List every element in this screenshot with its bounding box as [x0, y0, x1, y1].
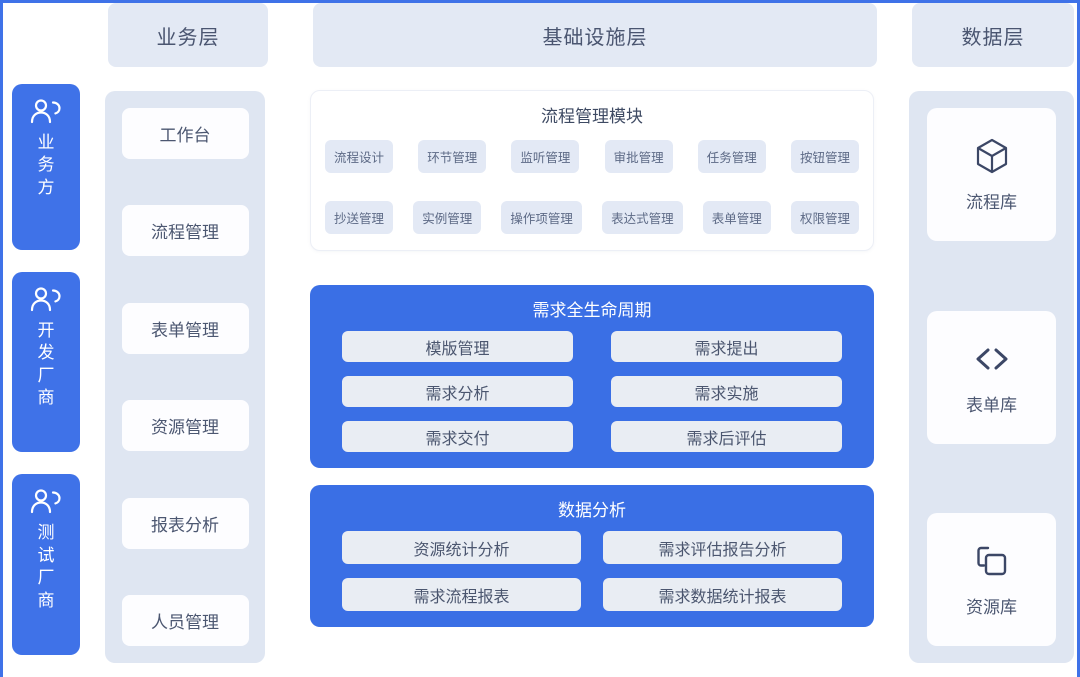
column-gap-2 — [874, 71, 909, 677]
header-infrastructure-layer: 基础设施层 — [313, 3, 877, 67]
tag-task-mgmt[interactable]: 任务管理 — [698, 140, 766, 173]
process-tag-row-2: 抄送管理 实例管理 操作项管理 表达式管理 表单管理 权限管理 — [325, 201, 859, 234]
lifecycle-grid: 模版管理 需求提出 需求分析 需求实施 需求交付 需求后评估 — [342, 331, 842, 452]
tag-operation-mgmt[interactable]: 操作项管理 — [501, 201, 582, 234]
data-card-process-repo[interactable]: 流程库 — [927, 108, 1056, 241]
tag-instance-mgmt[interactable]: 实例管理 — [413, 201, 481, 234]
role-label: 开发厂商 — [35, 320, 57, 410]
pill-requirement-analysis[interactable]: 需求分析 — [342, 376, 573, 407]
process-management-module: 流程管理模块 流程设计 环节管理 监听管理 审批管理 任务管理 按钮管理 抄送管… — [310, 90, 874, 251]
data-card-resource-repo[interactable]: 资源库 — [927, 513, 1056, 646]
pill-requirement-raise[interactable]: 需求提出 — [611, 331, 842, 362]
business-item-form-mgmt[interactable]: 表单管理 — [122, 303, 249, 354]
pill-resource-statistics[interactable]: 资源统计分析 — [342, 531, 581, 564]
analysis-row-1: 资源统计分析 需求评估报告分析 — [342, 531, 842, 564]
tag-form-mgmt[interactable]: 表单管理 — [703, 201, 771, 234]
role-label: 测试厂商 — [35, 522, 57, 612]
pill-process-report[interactable]: 需求流程报表 — [342, 578, 581, 611]
analysis-grid: 资源统计分析 需求评估报告分析 需求流程报表 需求数据统计报表 — [342, 531, 842, 611]
data-analysis-panel: 数据分析 资源统计分析 需求评估报告分析 需求流程报表 需求数据统计报表 — [310, 485, 874, 627]
users-icon — [29, 488, 63, 516]
users-icon — [29, 98, 63, 126]
layer-header-row: 业务层 基础设施层 数据层 — [3, 3, 1077, 71]
business-item-resource-mgmt[interactable]: 资源管理 — [122, 400, 249, 451]
business-item-process-mgmt[interactable]: 流程管理 — [122, 205, 249, 256]
tag-cc-mgmt[interactable]: 抄送管理 — [325, 201, 393, 234]
tag-approval-mgmt[interactable]: 审批管理 — [605, 140, 673, 173]
process-tag-row-1: 流程设计 环节管理 监听管理 审批管理 任务管理 按钮管理 — [325, 140, 859, 173]
lifecycle-row-2: 需求分析 需求实施 — [342, 376, 842, 407]
tag-button-mgmt[interactable]: 按钮管理 — [791, 140, 859, 173]
data-layer-column: 流程库 表单库 资源库 — [909, 91, 1074, 663]
tag-listener-mgmt[interactable]: 监听管理 — [511, 140, 579, 173]
process-module-title: 流程管理模块 — [325, 102, 859, 127]
requirement-lifecycle-panel: 需求全生命周期 模版管理 需求提出 需求分析 需求实施 需求交付 需求后评估 — [310, 285, 874, 468]
pill-post-evaluation[interactable]: 需求后评估 — [611, 421, 842, 452]
column-gap-1 — [265, 71, 310, 677]
business-item-workbench[interactable]: 工作台 — [122, 108, 249, 159]
business-item-report-analysis[interactable]: 报表分析 — [122, 498, 249, 549]
pill-requirement-delivery[interactable]: 需求交付 — [342, 421, 573, 452]
analysis-row-2: 需求流程报表 需求数据统计报表 — [342, 578, 842, 611]
business-item-personnel-mgmt[interactable]: 人员管理 — [122, 595, 249, 646]
copy-layers-icon — [972, 541, 1012, 581]
header-data-layer: 数据层 — [912, 3, 1074, 67]
data-card-label: 流程库 — [966, 188, 1017, 213]
data-card-label: 资源库 — [966, 593, 1017, 618]
data-card-form-repo[interactable]: 表单库 — [927, 311, 1056, 444]
role-label: 业务方 — [35, 132, 57, 199]
role-item-test-vendor[interactable]: 测试厂商 — [12, 474, 80, 655]
diagram-body: 业务方 开发厂商 测试厂商 工作台 — [3, 71, 1077, 677]
infrastructure-layer-column: 流程管理模块 流程设计 环节管理 监听管理 审批管理 任务管理 按钮管理 抄送管… — [310, 71, 874, 677]
lifecycle-row-1: 模版管理 需求提出 — [342, 331, 842, 362]
role-item-business-party[interactable]: 业务方 — [12, 84, 80, 250]
pill-evaluation-report[interactable]: 需求评估报告分析 — [603, 531, 842, 564]
pill-data-statistics-report[interactable]: 需求数据统计报表 — [603, 578, 842, 611]
role-rail: 业务方 开发厂商 测试厂商 — [3, 71, 105, 677]
business-layer-column: 工作台 流程管理 表单管理 资源管理 报表分析 人员管理 — [105, 91, 265, 663]
pill-template-mgmt[interactable]: 模版管理 — [342, 331, 573, 362]
tag-expression-mgmt[interactable]: 表达式管理 — [602, 201, 683, 234]
cube-icon — [972, 136, 1012, 176]
lifecycle-title: 需求全生命周期 — [342, 296, 842, 321]
role-item-dev-vendor[interactable]: 开发厂商 — [12, 272, 80, 453]
lifecycle-row-3: 需求交付 需求后评估 — [342, 421, 842, 452]
analysis-title: 数据分析 — [342, 496, 842, 521]
tag-process-design[interactable]: 流程设计 — [325, 140, 393, 173]
data-card-label: 表单库 — [966, 391, 1017, 416]
users-icon — [29, 286, 63, 314]
pill-requirement-implement[interactable]: 需求实施 — [611, 376, 842, 407]
header-business-layer: 业务层 — [108, 3, 268, 67]
architecture-diagram: 业务层 基础设施层 数据层 业务方 开发 — [0, 0, 1080, 677]
tag-node-mgmt[interactable]: 环节管理 — [418, 140, 486, 173]
code-brackets-icon — [972, 339, 1012, 379]
tag-permission-mgmt[interactable]: 权限管理 — [791, 201, 859, 234]
